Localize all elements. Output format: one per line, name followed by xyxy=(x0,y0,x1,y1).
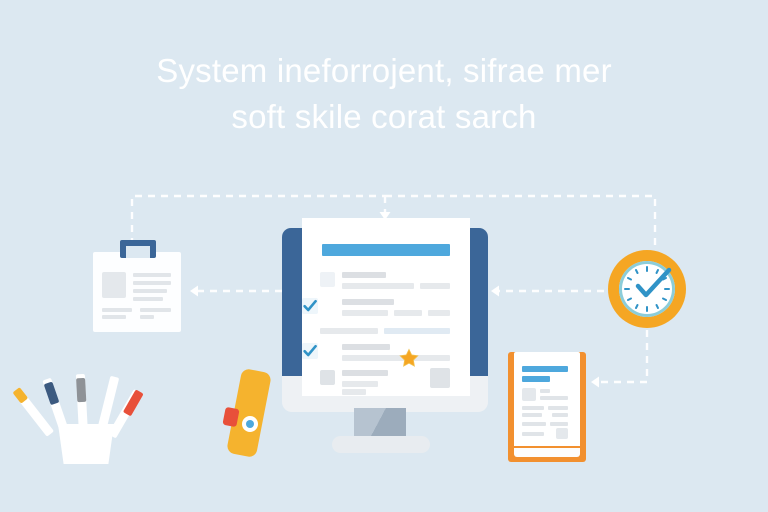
checkmark-icon[interactable] xyxy=(302,343,318,359)
book-text-line xyxy=(540,389,550,393)
screen-text-line xyxy=(342,283,414,289)
clipboard-thumbnail xyxy=(102,272,126,298)
star-icon[interactable] xyxy=(399,348,419,368)
screen-text-line xyxy=(384,328,450,334)
checkmark-icon[interactable] xyxy=(302,298,318,314)
screen-text-line xyxy=(342,355,450,361)
clipboard-text-line xyxy=(133,297,163,301)
screen-text-line xyxy=(342,272,386,278)
screen-text-line xyxy=(342,381,378,387)
book[interactable] xyxy=(508,352,586,462)
screen-text-line xyxy=(420,283,450,289)
screen-text-line xyxy=(428,310,450,316)
pen-tip xyxy=(76,378,86,402)
book-page-edge xyxy=(514,448,580,457)
arrowhead-book xyxy=(591,377,599,388)
clock[interactable] xyxy=(608,250,686,328)
illustration-canvas: System ineforrojent, sifrae mer soft ski… xyxy=(0,0,768,512)
stapler[interactable] xyxy=(222,368,278,468)
screen-header-bar xyxy=(322,244,450,256)
arrowhead-monitor-right xyxy=(491,286,499,297)
clipboard[interactable] xyxy=(93,252,181,332)
monitor-screen[interactable] xyxy=(302,218,470,396)
book-header-bar xyxy=(522,366,568,372)
book-text-line xyxy=(552,413,568,417)
screen-text-line xyxy=(342,389,366,395)
pen-tip xyxy=(44,381,60,405)
clipboard-text-line xyxy=(133,281,171,285)
clipboard-text-line xyxy=(102,308,132,312)
clipboard-text-line xyxy=(140,308,171,312)
clipboard-text-line xyxy=(133,273,171,277)
book-text-line xyxy=(550,422,568,426)
pen-cup[interactable] xyxy=(34,368,138,464)
arrowhead-clipboard-left xyxy=(190,286,198,297)
monitor-stand-base xyxy=(332,436,430,453)
page-title: System ineforrojent, sifrae mer soft ski… xyxy=(0,48,768,140)
clipboard-text-line xyxy=(102,315,126,319)
book-thumbnail xyxy=(556,428,568,439)
pen-cup-body xyxy=(58,424,114,464)
clipboard-clip-notch xyxy=(126,246,150,258)
screen-text-line xyxy=(342,370,388,376)
book-text-line xyxy=(540,396,568,400)
screen-thumbnail xyxy=(430,368,450,388)
screen-text-line xyxy=(342,344,390,350)
screen-text-line xyxy=(342,299,394,305)
book-text-line xyxy=(522,413,542,417)
checkbox-unchecked[interactable] xyxy=(320,272,335,287)
screen-text-line xyxy=(394,310,422,316)
book-text-line xyxy=(548,406,568,410)
clipboard-text-line xyxy=(140,315,154,319)
checkbox-unchecked[interactable] xyxy=(320,370,335,385)
connector-clock-to-book xyxy=(597,330,647,382)
book-text-line xyxy=(522,406,544,410)
book-text-line xyxy=(522,432,544,436)
stapler-dot-inner xyxy=(246,420,254,428)
screen-text-line xyxy=(320,328,378,334)
monitor-stand-shade xyxy=(354,408,406,438)
book-text-line xyxy=(522,422,546,426)
screen-text-line xyxy=(342,310,388,316)
book-thumbnail xyxy=(522,388,536,401)
clock-hands-icon xyxy=(608,250,686,328)
clipboard-text-line xyxy=(133,289,167,293)
book-header-bar xyxy=(522,376,550,382)
